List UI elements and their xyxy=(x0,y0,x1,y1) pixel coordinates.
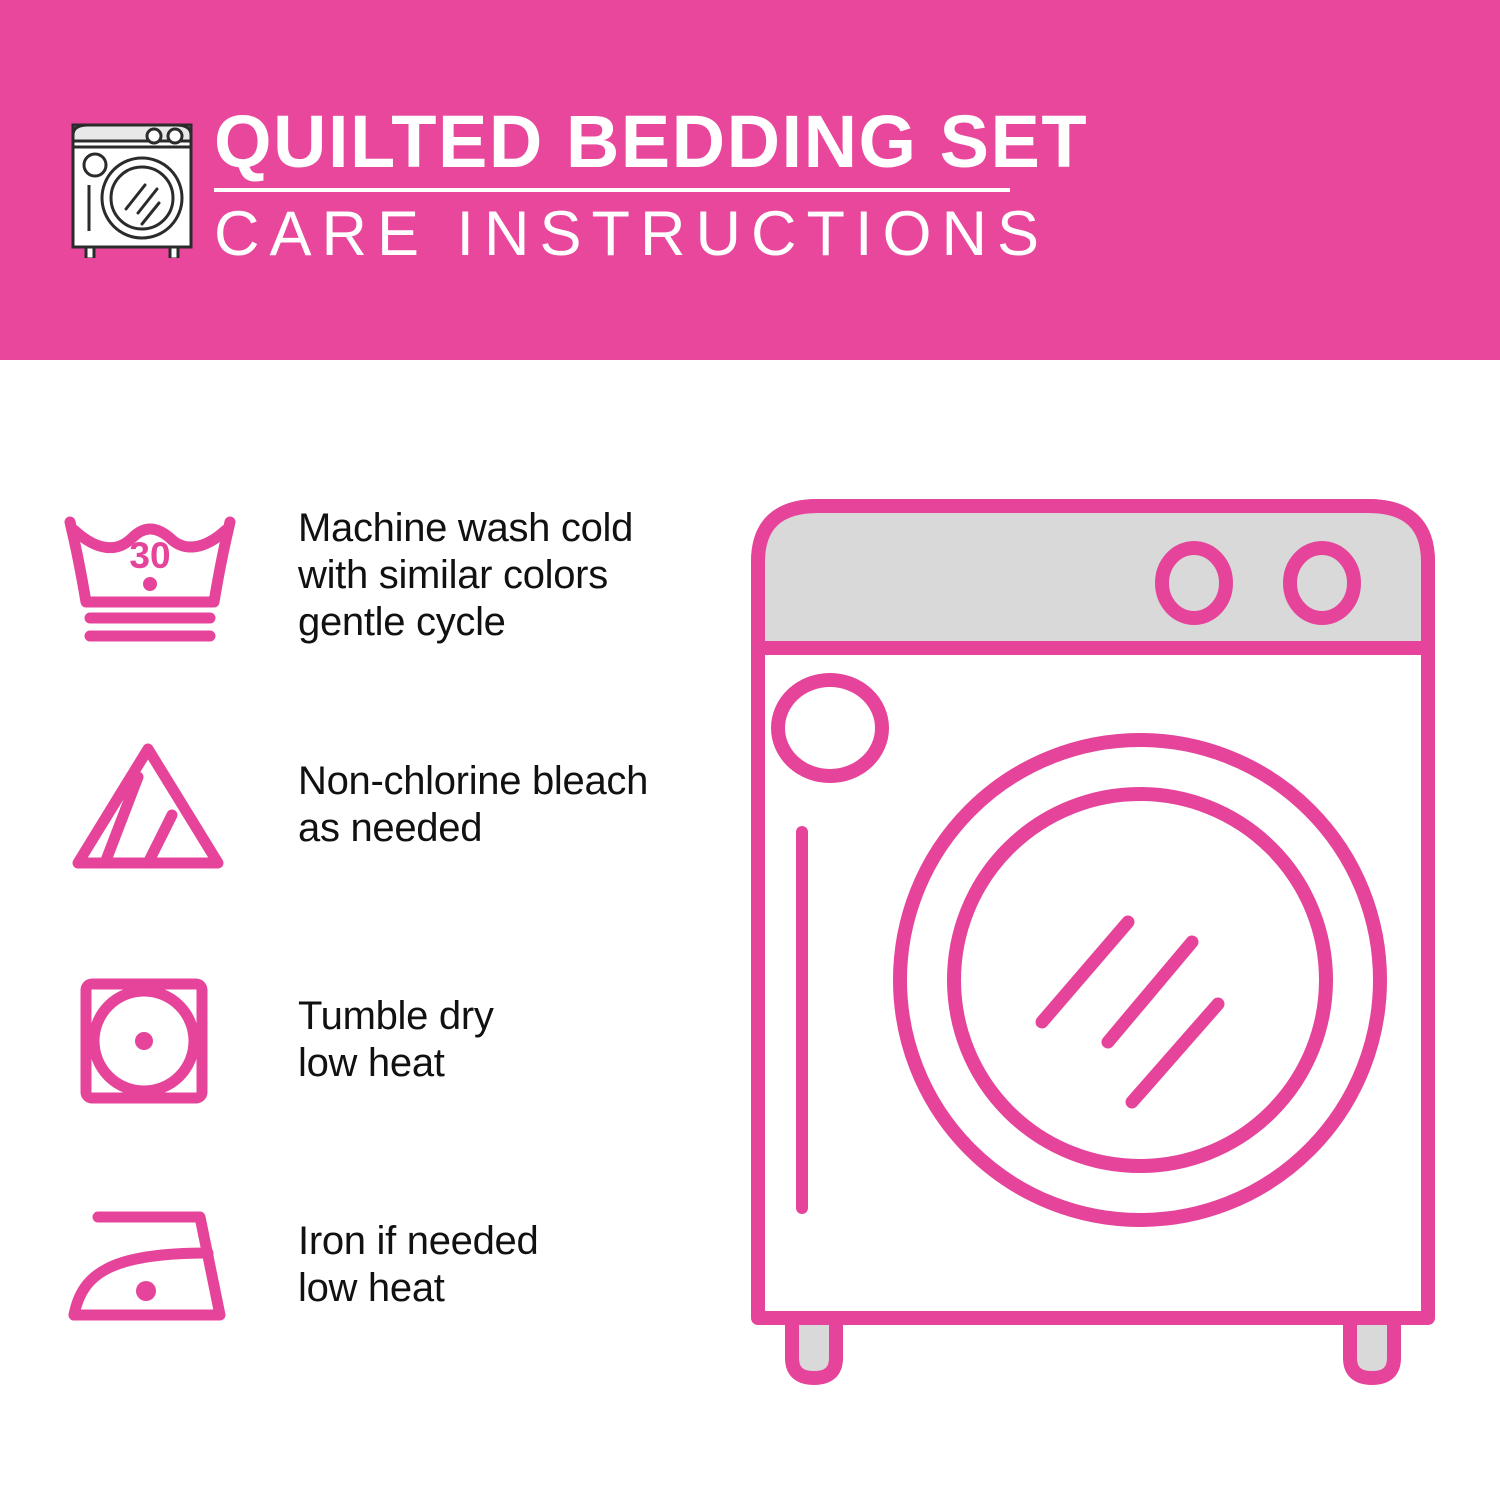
care-text-line: low heat xyxy=(298,1040,494,1087)
care-row-iron: Iron if needed low heat xyxy=(0,1195,740,1335)
care-text-line: Tumble dry xyxy=(298,993,494,1040)
care-text-line: gentle cycle xyxy=(298,599,633,646)
page-subtitle: CARE INSTRUCTIONS xyxy=(214,198,1024,270)
care-text-line: Non-chlorine bleach xyxy=(298,758,648,805)
care-row-bleach: Non-chlorine bleach as needed xyxy=(0,735,740,875)
care-text-machine-wash: Machine wash cold with similar colors ge… xyxy=(298,505,633,646)
header-divider xyxy=(214,188,1010,192)
page-title: QUILTED BEDDING SET xyxy=(214,100,1024,184)
care-row-tumble-dry: Tumble dry low heat xyxy=(0,970,740,1110)
care-text-line: Machine wash cold xyxy=(298,505,633,552)
front-load-washing-machine-illustration xyxy=(740,480,1470,1440)
washing-machine-icon xyxy=(62,103,202,258)
wash-temperature-value: 30 xyxy=(129,535,170,576)
iron-icon xyxy=(60,1195,260,1335)
care-row-machine-wash: 30 Machine wash cold with similar colors… xyxy=(0,505,740,646)
tumble-dry-icon xyxy=(60,970,260,1110)
bleach-triangle-icon xyxy=(60,735,260,875)
care-instructions-list: 30 Machine wash cold with similar colors… xyxy=(0,360,740,1500)
header-text-block: QUILTED BEDDING SET CARE INSTRUCTIONS xyxy=(214,100,1024,270)
care-text-line: with similar colors xyxy=(298,552,633,599)
care-text-tumble-dry: Tumble dry low heat xyxy=(298,993,494,1087)
care-text-line: low heat xyxy=(298,1265,538,1312)
care-text-bleach: Non-chlorine bleach as needed xyxy=(298,758,648,852)
header-band: QUILTED BEDDING SET CARE INSTRUCTIONS xyxy=(0,0,1500,360)
wash-tub-icon: 30 xyxy=(60,506,260,646)
care-text-iron: Iron if needed low heat xyxy=(298,1218,538,1312)
care-text-line: Iron if needed xyxy=(298,1218,538,1265)
care-text-line: as needed xyxy=(298,805,648,852)
